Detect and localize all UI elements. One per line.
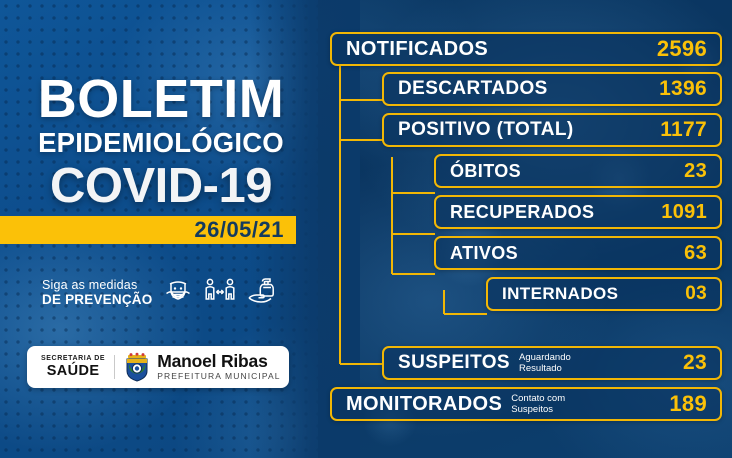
social-distancing-icon xyxy=(203,275,237,312)
row-suspeitos[interactable]: SUSPEITOS AguardandoResultado 23 xyxy=(382,346,722,380)
face-mask-icon xyxy=(162,275,194,312)
row-value: 63 xyxy=(684,242,720,265)
prevention-line2: DE PREVENÇÃO xyxy=(42,292,152,308)
row-label: INTERNADOS xyxy=(488,284,618,304)
prevention-strip: Siga as medidas DE PREVENÇÃO xyxy=(42,272,292,314)
topic-title: COVID-19 xyxy=(24,160,298,212)
row-label: ÓBITOS xyxy=(436,161,521,182)
row-notificados[interactable]: NOTIFICADOS 2596 xyxy=(330,32,722,66)
municipality-subtitle: PREFEITURA MUNICIPAL xyxy=(157,371,280,382)
row-label: MONITORADOS xyxy=(332,393,502,416)
row-label: NOTIFICADOS xyxy=(332,38,488,61)
prevention-icons xyxy=(162,275,280,312)
row-monitorados[interactable]: MONITORADOS Contato comSuspeitos 189 xyxy=(330,387,722,421)
row-recuperados[interactable]: RECUPERADOS 1091 xyxy=(434,195,722,229)
secretariat-line2: SAÚDE xyxy=(41,363,105,379)
health-secretariat-logo: SECRETARIA DE SAÚDE xyxy=(27,355,105,379)
row-label: DESCARTADOS xyxy=(384,78,548,100)
hand-sanitizer-icon xyxy=(246,275,280,312)
municipality-name: Manoel Ribas xyxy=(157,352,280,371)
row-internados[interactable]: INTERNADOS 03 xyxy=(486,277,722,311)
row-label: SUSPEITOS xyxy=(384,352,510,374)
row-value: 03 xyxy=(685,283,720,305)
statistics-tree: NOTIFICADOS 2596 DESCARTADOS 1396 POSITI… xyxy=(318,0,732,458)
row-label: ATIVOS xyxy=(436,243,518,264)
row-obitos[interactable]: ÓBITOS 23 xyxy=(434,154,722,188)
row-value: 189 xyxy=(669,391,720,417)
bulletin-date: 26/05/21 xyxy=(194,216,284,244)
row-value: 23 xyxy=(684,160,720,183)
row-label: POSITIVO (TOTAL) xyxy=(384,119,574,141)
row-value: 1396 xyxy=(659,77,720,101)
municipality-logo: Manoel Ribas PREFEITURA MUNICIPAL xyxy=(157,352,280,382)
logo-divider xyxy=(114,355,115,379)
coat-of-arms-icon xyxy=(124,352,150,382)
row-note: AguardandoResultado xyxy=(519,352,571,374)
bulletin-infographic: BOLETIM EPIDEMIOLÓGICO COVID-19 26/05/21… xyxy=(0,0,732,458)
row-value: 23 xyxy=(683,351,720,375)
secretariat-line1: SECRETARIA DE xyxy=(41,355,105,362)
page-subtitle: EPIDEMIOLÓGICO xyxy=(24,128,298,158)
row-note: Contato comSuspeitos xyxy=(511,393,565,415)
prevention-line1: Siga as medidas xyxy=(42,278,152,292)
row-label: RECUPERADOS xyxy=(436,202,594,223)
row-ativos[interactable]: ATIVOS 63 xyxy=(434,236,722,270)
row-descartados[interactable]: DESCARTADOS 1396 xyxy=(382,72,722,106)
prevention-text: Siga as medidas DE PREVENÇÃO xyxy=(42,278,152,308)
footer-logo-bar: SECRETARIA DE SAÚDE M xyxy=(27,346,289,388)
date-bar: 26/05/21 xyxy=(0,216,296,244)
row-value: 1091 xyxy=(661,201,720,224)
page-title: BOLETIM xyxy=(24,72,298,126)
row-positivo-total[interactable]: POSITIVO (TOTAL) 1177 xyxy=(382,113,722,147)
hero-panel: BOLETIM EPIDEMIOLÓGICO COVID-19 26/05/21… xyxy=(0,0,318,458)
row-value: 1177 xyxy=(660,118,720,142)
row-value: 2596 xyxy=(657,36,720,62)
